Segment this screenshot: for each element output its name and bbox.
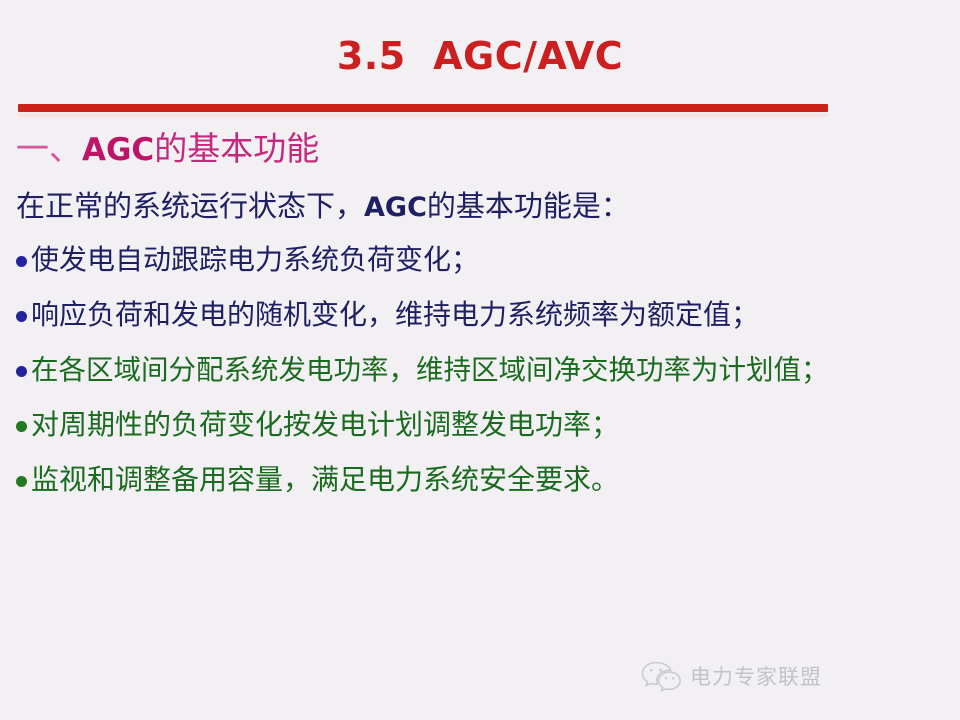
bullet-text: 在各区域间分配系统发电功率，维持区域间净交换功率为计划值； [31, 350, 829, 390]
title-divider-shadow [18, 113, 828, 117]
bullet-dot-icon [16, 476, 27, 487]
intro-line: 在正常的系统运行状态下，AGC的基本功能是： [16, 188, 630, 226]
title-divider [18, 104, 828, 112]
watermark: 电力专家联盟 [641, 660, 822, 692]
slide-canvas: 3.5 AGC/AVC 一、AGC的基本功能 在正常的系统运行状态下，AGC的基… [0, 0, 960, 720]
watermark-label: 电力专家联盟 [690, 661, 822, 691]
page-title: 3.5 AGC/AVC [337, 36, 623, 78]
intro-line-after: 的基本功能是： [427, 189, 630, 223]
list-item: 监视和调整备用容量，满足电力系统安全要求。 [16, 460, 946, 515]
bullet-text: 对周期性的负荷变化按发电计划调整发电功率； [31, 405, 619, 445]
section-heading-emphasis: AGC [82, 132, 154, 168]
bullet-text: 使发电自动跟踪电力系统负荷变化； [31, 240, 479, 280]
intro-line-emphasis: AGC [364, 192, 427, 223]
section-heading-number: 一、 [16, 129, 82, 168]
wechat-icon [641, 660, 681, 692]
bullet-list: 使发电自动跟踪电力系统负荷变化； 响应负荷和发电的随机变化，维持电力系统频率为额… [16, 240, 946, 515]
list-item: 在各区域间分配系统发电功率，维持区域间净交换功率为计划值； [16, 350, 946, 405]
intro-line-before: 在正常的系统运行状态下， [16, 189, 364, 223]
bullet-text: 响应负荷和发电的随机变化，维持电力系统频率为额定值； [31, 295, 759, 335]
section-heading-rest: 的基本功能 [154, 129, 319, 168]
bullet-dot-icon [16, 366, 27, 377]
bullet-text: 监视和调整备用容量，满足电力系统安全要求。 [31, 460, 619, 500]
bullet-dot-icon [16, 256, 27, 267]
slide-title-row: 3.5 AGC/AVC [0, 36, 960, 78]
section-heading: 一、AGC的基本功能 [16, 128, 319, 170]
bullet-dot-icon [16, 421, 27, 432]
bullet-dot-icon [16, 311, 27, 322]
list-item: 响应负荷和发电的随机变化，维持电力系统频率为额定值； [16, 295, 946, 350]
list-item: 对周期性的负荷变化按发电计划调整发电功率； [16, 405, 946, 460]
list-item: 使发电自动跟踪电力系统负荷变化； [16, 240, 946, 295]
